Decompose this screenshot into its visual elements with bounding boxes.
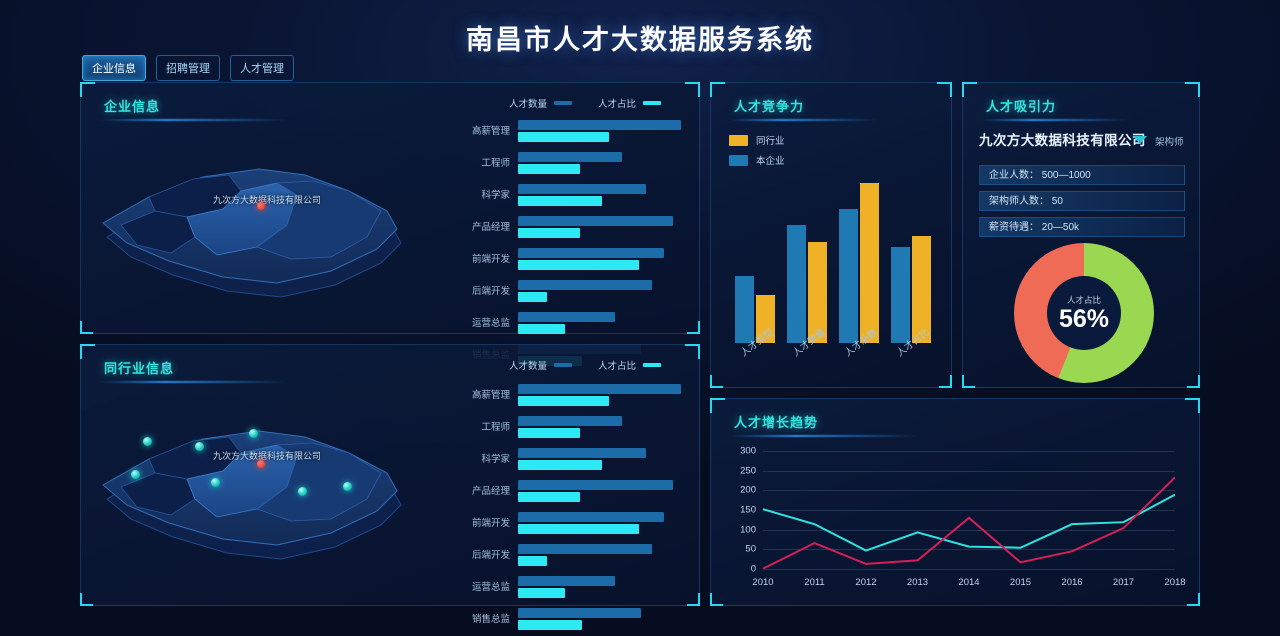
legend-item-talent-share: 人才占比 (598, 358, 661, 372)
bar-talent-share (518, 524, 639, 534)
legend-swatch-industry (729, 135, 748, 146)
bar-row: 前端开发 (518, 511, 688, 543)
map-svg (91, 387, 421, 587)
bar-talent-count (518, 416, 622, 426)
panel-company-info: 企业信息 (80, 82, 700, 334)
panel-divider (99, 381, 289, 383)
map-marker-peer[interactable] (131, 470, 140, 479)
bar-company (839, 209, 858, 343)
bar-category-label: 运营总监 (472, 579, 510, 593)
panel-industry-title: 同行业信息 (104, 358, 174, 377)
chart-industry-positions: 高薪管理工程师科学家产品经理前端开发后端开发运营总监销售总监 (518, 383, 688, 636)
map-company[interactable]: 九次方大数据科技有限公司 (91, 125, 421, 325)
bar-category-label: 销售总监 (472, 611, 510, 625)
bar-talent-share (518, 260, 639, 270)
bar-row: 运营总监 (518, 575, 688, 607)
y-axis-tick: 150 (740, 505, 756, 516)
map-marker-peer[interactable] (249, 429, 258, 438)
bar-row: 工程师 (518, 415, 688, 447)
y-axis-tick: 100 (740, 524, 756, 535)
field-architect-count: 架构师人数： 50 (979, 191, 1185, 211)
tab-talent-management[interactable]: 人才管理 (230, 55, 294, 81)
bar-category-label: 产品经理 (472, 219, 510, 233)
bar-row: 科学家 (518, 447, 688, 479)
bar-category-label: 工程师 (481, 155, 510, 169)
company-name-label: 九次方大数据科技有限公司 (979, 129, 1146, 149)
panel-growth-title: 人才增长趋势 (734, 412, 818, 431)
legend-swatch-talent-share (643, 101, 661, 105)
legend-swatch-talent-count (554, 101, 572, 105)
legend-swatch-talent-count (554, 363, 572, 367)
bar-row: 前端开发 (518, 247, 688, 279)
line-series-svg (763, 451, 1175, 569)
panel-divider (981, 119, 1131, 121)
bar-category-label: 产品经理 (472, 483, 510, 497)
bar-category-label: 工程师 (481, 419, 510, 433)
bar-category-label: 前端开发 (472, 251, 510, 265)
bar-talent-count (518, 384, 681, 394)
x-axis-tick: 2015 (1010, 577, 1031, 588)
bar-company (735, 276, 754, 343)
y-axis-tick: 0 (751, 564, 756, 575)
bar-talent-share (518, 556, 547, 566)
bar-talent-share (518, 132, 609, 142)
bar-talent-count (518, 480, 673, 490)
bar-category-label: 运营总监 (472, 315, 510, 329)
bar-row: 后端开发 (518, 543, 688, 575)
chart-competitiveness: 人才类型人才数量人才总数人才占比 (727, 183, 937, 343)
bar-talent-count (518, 448, 646, 458)
y-axis-tick: 200 (740, 485, 756, 496)
panel-divider (729, 119, 879, 121)
bar-talent-share (518, 228, 580, 238)
bar-company (787, 225, 806, 343)
bar-row: 产品经理 (518, 215, 688, 247)
legend-competitiveness: 同行业 本企业 (729, 133, 785, 173)
panel-attractiveness: 人才吸引力 九次方大数据科技有限公司 架构师 企业人数： 500—1000 架构… (962, 82, 1200, 388)
chevron-down-icon[interactable] (1133, 136, 1147, 144)
map-marker-company[interactable] (257, 202, 265, 210)
x-axis-tick: 2017 (1113, 577, 1134, 588)
bar-category-label: 科学家 (481, 451, 510, 465)
tab-company-info[interactable]: 企业信息 (82, 55, 146, 81)
y-axis-tick: 300 (740, 446, 756, 457)
bar-category-label: 前端开发 (472, 515, 510, 529)
map-marker-peer[interactable] (343, 482, 352, 491)
x-axis-tick: 2012 (855, 577, 876, 588)
tab-bar: 企业信息 招聘管理 人才管理 (82, 55, 294, 81)
panel-divider (99, 119, 289, 121)
bar-talent-count (518, 312, 615, 322)
bar-category-label: 科学家 (481, 187, 510, 201)
bar-company (891, 247, 910, 343)
bar-talent-share (518, 396, 609, 406)
bar-talent-share (518, 324, 565, 334)
map-marker-peer[interactable] (211, 478, 220, 487)
bar-talent-share (518, 620, 582, 630)
bar-talent-count (518, 248, 664, 258)
map-marker-label: 九次方大数据科技有限公司 (213, 193, 321, 206)
bar-talent-count (518, 152, 622, 162)
map-marker-peer[interactable] (298, 487, 307, 496)
bar-row: 科学家 (518, 183, 688, 215)
bar-talent-share (518, 460, 602, 470)
y-axis-tick: 250 (740, 465, 756, 476)
dashboard-root: 南昌市人才大数据服务系统 企业信息 招聘管理 人才管理 企业信息 (0, 0, 1280, 636)
bar-talent-count (518, 216, 673, 226)
bar-talent-count (518, 120, 681, 130)
donut-value: 56% (1059, 307, 1109, 332)
bar-talent-share (518, 292, 547, 302)
legend-company-bars: 人才数量 人才占比 (509, 96, 661, 110)
panel-attractiveness-title: 人才吸引力 (986, 96, 1056, 115)
map-marker-peer[interactable] (143, 437, 152, 446)
chart-talent-share-donut: 人才占比 56% (1005, 243, 1155, 383)
bar-row: 工程师 (518, 151, 688, 183)
bar-industry (860, 183, 879, 343)
legend-item-industry: 同行业 (729, 133, 785, 147)
bar-row: 后端开发 (518, 279, 688, 311)
y-axis-tick: 50 (745, 544, 756, 555)
x-axis-tick: 2014 (958, 577, 979, 588)
field-employee-count: 企业人数： 500—1000 (979, 165, 1185, 185)
chart-growth-trend: 0501001502002503002010201120122013201420… (763, 451, 1175, 569)
bar-talent-count (518, 544, 652, 554)
map-marker-company[interactable] (257, 460, 265, 468)
bar-category-label: 高薪管理 (472, 123, 510, 137)
grid-line (763, 569, 1175, 570)
x-axis-tick: 2013 (907, 577, 928, 588)
chart-company-positions: 高薪管理工程师科学家产品经理前端开发后端开发运营总监销售总监 (518, 119, 688, 375)
bar-talent-count (518, 512, 664, 522)
bar-talent-share (518, 428, 580, 438)
legend-industry-bars: 人才数量 人才占比 (509, 358, 661, 372)
legend-swatch-company (729, 155, 748, 166)
x-axis-tick: 2010 (752, 577, 773, 588)
page-title: 南昌市人才大数据服务系统 (0, 18, 1280, 57)
map-svg (91, 125, 421, 325)
legend-item-talent-count: 人才数量 (509, 96, 572, 110)
legend-swatch-talent-share (643, 363, 661, 367)
legend-item-talent-share: 人才占比 (598, 96, 661, 110)
bar-talent-share (518, 492, 580, 502)
x-axis-tick: 2011 (804, 577, 824, 588)
legend-item-talent-count: 人才数量 (509, 358, 572, 372)
map-marker-label: 九次方大数据科技有限公司 (213, 449, 321, 462)
panel-company-title: 企业信息 (104, 96, 160, 115)
tab-recruitment-management[interactable]: 招聘管理 (156, 55, 220, 81)
bar-talent-count (518, 576, 615, 586)
bar-talent-count (518, 608, 641, 618)
panel-competitiveness-title: 人才竞争力 (734, 96, 804, 115)
bar-talent-share (518, 164, 580, 174)
line-series-cyan (763, 495, 1175, 551)
map-marker-peer[interactable] (195, 442, 204, 451)
bar-row: 运营总监 (518, 311, 688, 343)
role-label: 架构师 (1155, 134, 1184, 148)
bar-category-label: 高薪管理 (472, 387, 510, 401)
bar-category-label: 后端开发 (472, 283, 510, 297)
bar-talent-share (518, 196, 602, 206)
bar-row: 产品经理 (518, 479, 688, 511)
bar-row: 高薪管理 (518, 383, 688, 415)
x-axis-tick: 2018 (1164, 577, 1185, 588)
panel-growth-trend: 人才增长趋势 050100150200250300201020112012201… (710, 398, 1200, 606)
bar-category-label: 后端开发 (472, 547, 510, 561)
bar-talent-count (518, 184, 646, 194)
bar-row: 销售总监 (518, 607, 688, 636)
x-axis-tick: 2016 (1061, 577, 1082, 588)
field-salary-range: 薪资待遇： 20—50k (979, 217, 1185, 237)
bar-talent-count (518, 280, 652, 290)
panel-divider (729, 435, 919, 437)
donut-center: 人才占比 56% (1047, 276, 1121, 350)
legend-item-company: 本企业 (729, 153, 785, 167)
panel-industry-info: 同行业信息 九次方大数据科技有限公司 (80, 344, 700, 606)
bar-talent-share (518, 588, 565, 598)
map-industry[interactable]: 九次方大数据科技有限公司 (91, 387, 421, 587)
bar-row: 高薪管理 (518, 119, 688, 151)
panel-competitiveness: 人才竞争力 同行业 本企业 人才类型人才数量人才总数人才占比 (710, 82, 952, 388)
